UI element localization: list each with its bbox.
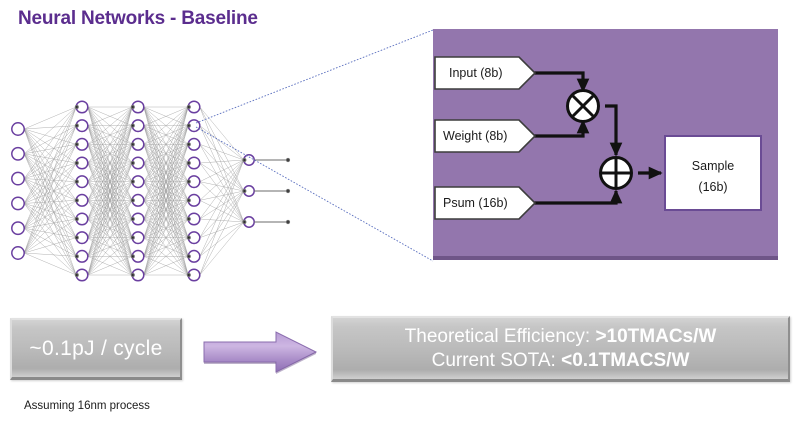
nn-node — [12, 123, 24, 135]
wire-psum-to-adder — [533, 191, 616, 203]
efficiency-line-2-prefix: Current SOTA: — [432, 350, 562, 371]
nn-node — [12, 172, 24, 184]
nn-node — [12, 148, 24, 160]
slide-canvas: Neural Networks - Baseline Input (8b — [0, 0, 800, 435]
process-arrow-icon — [200, 328, 320, 376]
page-title: Neural Networks - Baseline — [18, 8, 258, 30]
mac-datapath-diagram: Input (8b) Weight (8b) Psum (16b) Sample… — [433, 29, 778, 264]
mac-input-label-1: Weight (8b) — [443, 129, 507, 143]
sample-label-line2: (16b) — [698, 180, 727, 194]
efficiency-line-2-value: <0.1TMACS/W — [561, 350, 689, 371]
wire-weight-to-multiplier — [533, 121, 583, 136]
efficiency-line-2: Current SOTA: <0.1TMACS/W — [432, 349, 690, 372]
efficiency-line-1-value: >10TMACs/W — [595, 326, 716, 347]
wire-multiplier-to-adder — [605, 106, 616, 155]
efficiency-line-1-prefix: Theoretical Efficiency: — [405, 326, 596, 347]
efficiency-callout-box: Theoretical Efficiency: >10TMACs/W Curre… — [331, 316, 790, 382]
efficiency-line-1: Theoretical Efficiency: >10TMACs/W — [405, 325, 717, 348]
mac-input-weight: Weight (8b) — [435, 120, 535, 152]
nn-node — [12, 247, 24, 259]
multiplier-icon — [568, 91, 599, 122]
mac-output-sample: Sample (16b) — [665, 136, 761, 210]
mac-input-psum: Psum (16b) — [435, 187, 535, 219]
nn-node — [12, 197, 24, 209]
assumption-caption: Assuming 16nm process — [24, 400, 150, 412]
sample-label-line1: Sample — [692, 159, 734, 173]
nn-node — [12, 222, 24, 234]
mac-input-label-2: Psum (16b) — [443, 196, 508, 210]
wire-input-to-multiplier — [533, 73, 583, 91]
mac-input-label-0: Input (8b) — [449, 66, 503, 80]
adder-icon — [601, 158, 632, 189]
mac-input-input: Input (8b) — [435, 57, 535, 89]
neural-network-illustration — [2, 100, 294, 282]
energy-per-cycle-box: ~0.1pJ / cycle — [10, 318, 182, 380]
